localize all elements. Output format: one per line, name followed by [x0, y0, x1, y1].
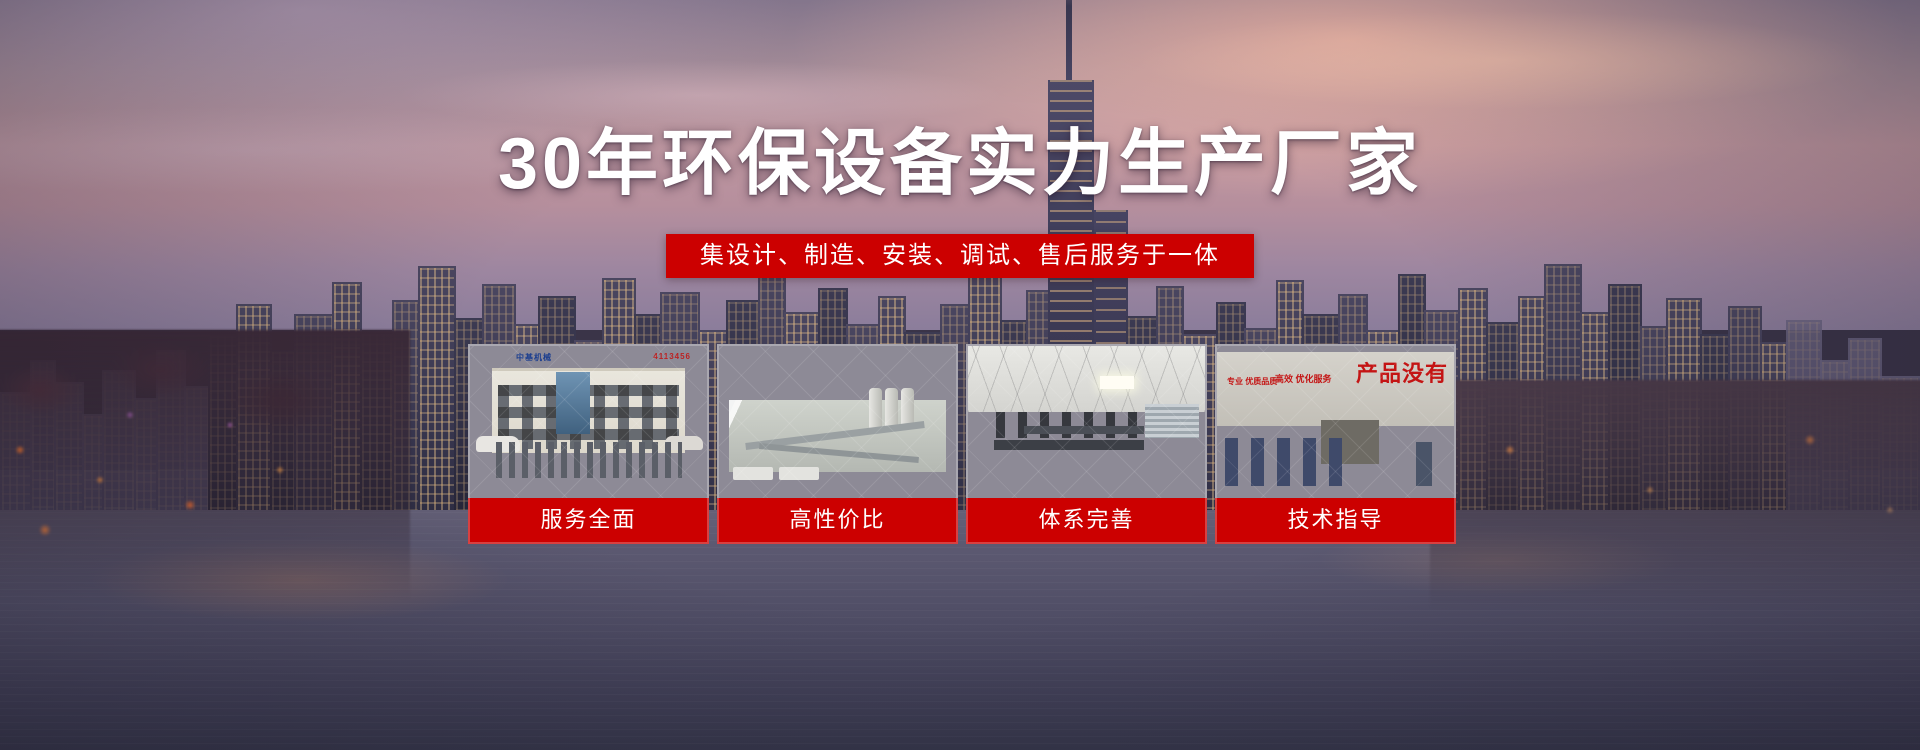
subtitle-banner: 集设计、制造、安装、调试、售后服务于一体 — [666, 234, 1254, 278]
office-interior-team-photo — [966, 344, 1207, 498]
foreground-park-left — [0, 330, 410, 600]
feature-card-service[interactable]: 中基机械 4113456 服务全面 — [468, 344, 705, 544]
feature-card-caption: 体系完善 — [966, 498, 1207, 544]
feature-card-list: 中基机械 4113456 服务全面 高性价比 — [468, 344, 1452, 544]
building-sign-text: 中基机械 — [516, 352, 552, 363]
factory-slogan-left: 专业 优质品质 — [1227, 376, 1277, 387]
feature-card-guidance[interactable]: 产品没有 专业 优质品质 高效 优化服务 技术指导 — [1215, 344, 1452, 544]
company-office-building-staff-photo: 中基机械 4113456 — [468, 344, 709, 498]
aerial-factory-plant-photo — [717, 344, 958, 498]
tower-spire — [1066, 0, 1072, 90]
building-phone-text: 4113456 — [653, 352, 691, 361]
feature-card-caption: 服务全面 — [468, 498, 709, 544]
foreground-park-right — [1430, 380, 1920, 610]
feature-card-caption: 技术指导 — [1215, 498, 1456, 544]
feature-card-system[interactable]: 体系完善 — [966, 344, 1203, 544]
feature-card-caption: 高性价比 — [717, 498, 958, 544]
feature-card-value[interactable]: 高性价比 — [717, 344, 954, 544]
workshop-workers-training-photo: 产品没有 专业 优质品质 高效 优化服务 — [1215, 344, 1456, 498]
factory-sign-big-text: 产品没有 — [1356, 356, 1448, 388]
page-title: 30年环保设备实力生产厂家 — [0, 104, 1920, 209]
factory-slogan-mid: 高效 优化服务 — [1275, 372, 1332, 385]
hero-banner: 30年环保设备实力生产厂家 集设计、制造、安装、调试、售后服务于一体 中基机械 … — [0, 0, 1920, 750]
